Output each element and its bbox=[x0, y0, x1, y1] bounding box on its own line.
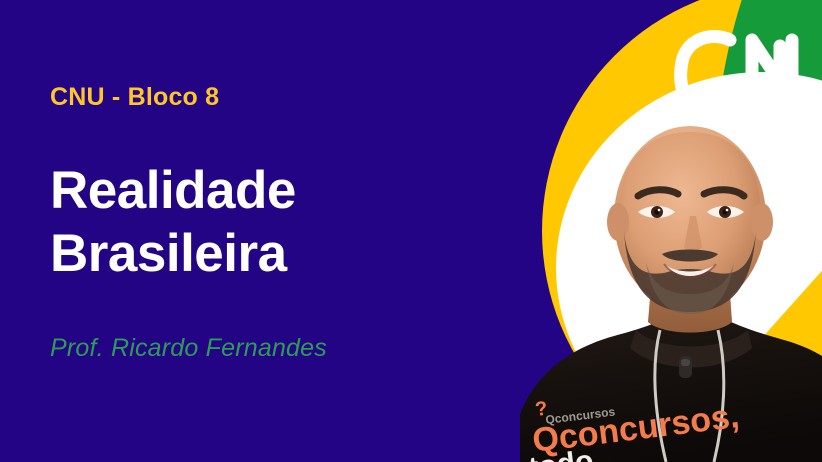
thumbnail-slide: Qconcursos ? Qconcursos, todo CNU - Bloc… bbox=[0, 0, 822, 462]
lapel-microphone bbox=[679, 356, 692, 378]
course-artwork: Qconcursos ? Qconcursos, todo bbox=[0, 0, 822, 462]
ear-left bbox=[607, 203, 629, 241]
ear-right bbox=[751, 203, 773, 241]
